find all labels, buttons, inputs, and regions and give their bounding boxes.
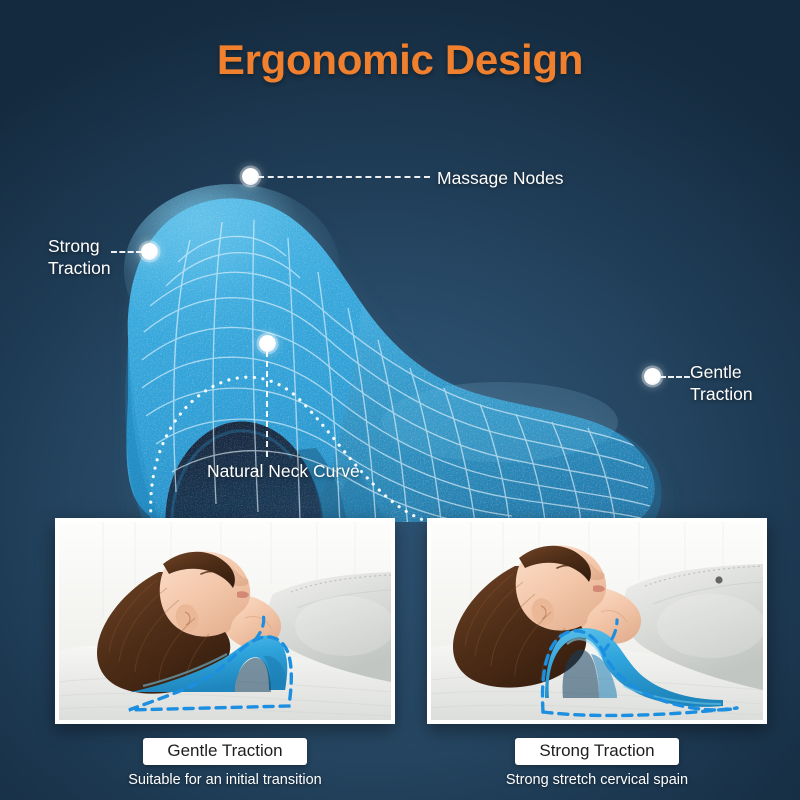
strong-traction-subtitle: Strong stretch cervical spain bbox=[427, 772, 767, 788]
pillow-illustration bbox=[0, 92, 800, 522]
massage-nodes-leader bbox=[258, 176, 430, 178]
strong-traction-photo-inner bbox=[431, 522, 763, 720]
infographic-stage: Ergonomic Design bbox=[0, 0, 800, 800]
callout-massage-nodes-label: Massage Nodes bbox=[437, 168, 563, 188]
strong-traction-leader bbox=[111, 251, 142, 253]
callout-natural-neck-curve-label: Natural Neck Curve bbox=[207, 461, 360, 481]
strong-traction-badge: Strong Traction bbox=[515, 738, 678, 765]
strong-traction-marker[interactable] bbox=[141, 243, 158, 260]
callout-strong-traction-line2: Traction bbox=[48, 258, 111, 280]
page-title: Ergonomic Design bbox=[0, 36, 800, 84]
gentle-traction-marker[interactable] bbox=[644, 368, 661, 385]
gentle-traction-leader bbox=[660, 376, 690, 378]
strong-traction-photo[interactable] bbox=[427, 518, 767, 724]
strong-traction-caption: Strong Traction Strong stretch cervical … bbox=[427, 738, 767, 788]
callout-strong-traction: Strong Traction bbox=[48, 236, 111, 280]
massage-nodes-marker[interactable] bbox=[242, 168, 259, 185]
gentle-traction-scene bbox=[59, 522, 391, 720]
pillow-body-group bbox=[124, 184, 662, 522]
gentle-traction-photo[interactable] bbox=[55, 518, 395, 724]
callout-natural-neck-curve: Natural Neck Curve bbox=[207, 461, 360, 483]
strong-traction-scene bbox=[431, 522, 763, 720]
callout-gentle-traction-line1: Gentle bbox=[690, 362, 753, 384]
callout-gentle-traction: Gentle Traction bbox=[690, 362, 753, 406]
gentle-traction-caption: Gentle Traction Suitable for an initial … bbox=[55, 738, 395, 788]
callout-strong-traction-line1: Strong bbox=[48, 236, 111, 258]
natural-neck-curve-marker[interactable] bbox=[259, 335, 276, 352]
gentle-traction-badge: Gentle Traction bbox=[143, 738, 306, 765]
natural-neck-curve-leader bbox=[266, 351, 268, 457]
callout-massage-nodes: Massage Nodes bbox=[437, 168, 563, 190]
gentle-traction-photo-inner bbox=[59, 522, 391, 720]
callout-gentle-traction-line2: Traction bbox=[690, 384, 753, 406]
gentle-traction-subtitle: Suitable for an initial transition bbox=[55, 772, 395, 788]
